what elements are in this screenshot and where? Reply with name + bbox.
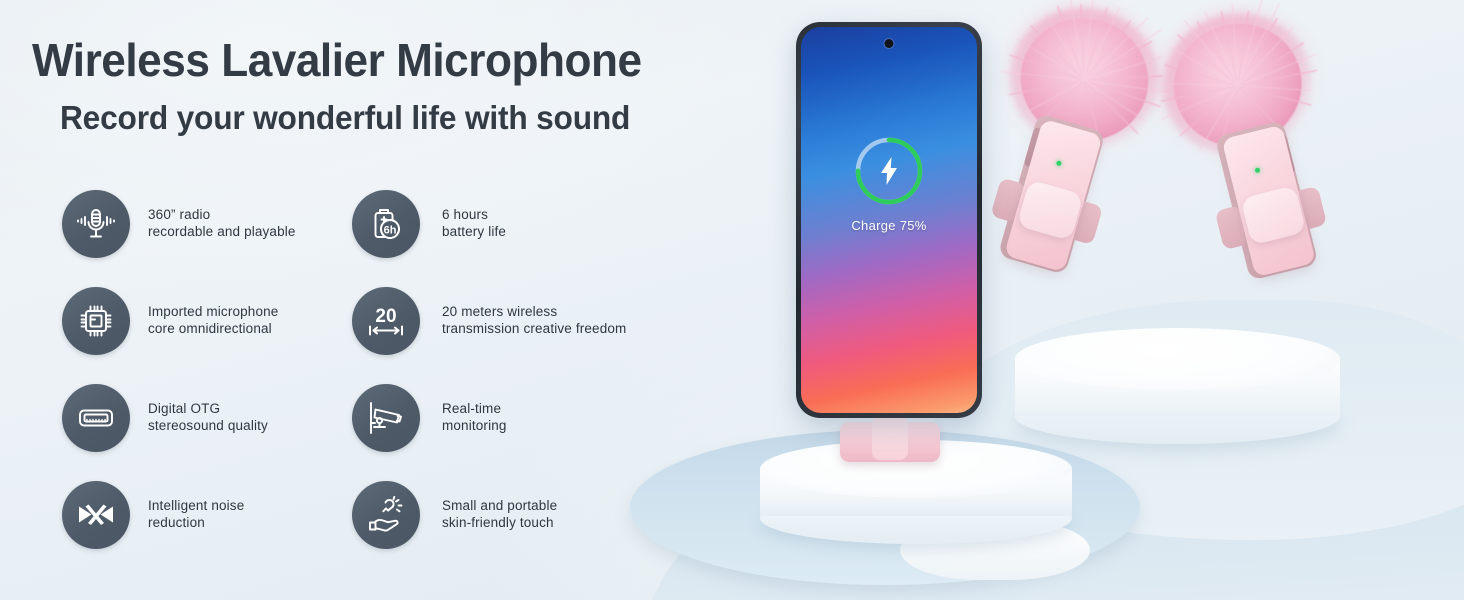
feature-line-1: 360” radio [148, 207, 210, 222]
feature-line-2: core omnidirectional [148, 320, 278, 337]
charge-progress-ring [851, 133, 927, 209]
feature-line-2: stereosound quality [148, 417, 268, 434]
feature-line-1: 6 hours [442, 207, 488, 222]
feature-line-2: battery life [442, 223, 506, 240]
feature-line-1: Real-time [442, 401, 501, 416]
feature-label: Real-time monitoring [442, 400, 507, 434]
cctv-camera-icon [352, 384, 420, 452]
feature-label: 20 meters wireless transmission creative… [442, 303, 626, 337]
charging-indicator: Charge 75% [809, 133, 969, 233]
lightning-bolt-icon [877, 156, 901, 186]
svg-text:6h: 6h [384, 224, 397, 236]
lavalier-microphone-left [969, 3, 1163, 284]
feature-label: Imported microphone core omnidirectional [148, 303, 278, 337]
podium-microphones [1015, 328, 1340, 438]
feature-label: Intelligent noise reduction [148, 497, 244, 531]
podium-top [1015, 328, 1340, 390]
feature-label: Digital OTG stereosound quality [148, 400, 268, 434]
feature-line-1: Imported microphone [148, 304, 278, 319]
noise-reduction-icon [62, 481, 130, 549]
chip-icon [62, 287, 130, 355]
feature-line-2: skin-friendly touch [442, 514, 557, 531]
feature-label: 6 hours battery life [442, 206, 506, 240]
product-photo-scene: Charge 75% [600, 0, 1464, 600]
page-subtitle: Record your wonderful life with sound [60, 99, 630, 137]
feature-line-2: recordable and playable [148, 223, 296, 240]
feature-label: Small and portable skin-friendly touch [442, 497, 557, 531]
microphone-soundwave-icon [62, 190, 130, 258]
dongle-center-block [872, 416, 908, 460]
battery-6h-icon: 6h [352, 190, 420, 258]
usb-port-icon [62, 384, 130, 452]
charge-status-label: Charge 75% [809, 218, 969, 233]
feature-line-2: monitoring [442, 417, 507, 434]
lavalier-microphone-right [1161, 10, 1347, 289]
feature-line-1: Digital OTG [148, 401, 220, 416]
page-title: Wireless Lavalier Microphone [32, 33, 642, 87]
product-banner: Wireless Lavalier Microphone Record your… [0, 0, 1464, 600]
feature-line-1: 20 meters wireless [442, 304, 557, 319]
punch-hole-camera-icon [885, 39, 894, 48]
svg-text:20: 20 [375, 306, 396, 327]
phone-screen: Charge 75% [801, 27, 977, 413]
smartphone: Charge 75% [796, 22, 982, 418]
feature-line-2: reduction [148, 514, 244, 531]
feature-label: 360” radio recordable and playable [148, 206, 296, 240]
feature-line-2: transmission creative freedom [442, 320, 626, 337]
feature-line-1: Small and portable [442, 498, 557, 513]
feature-line-1: Intelligent noise [148, 498, 244, 513]
hand-device-icon [352, 481, 420, 549]
distance-20m-icon: 20 [352, 287, 420, 355]
